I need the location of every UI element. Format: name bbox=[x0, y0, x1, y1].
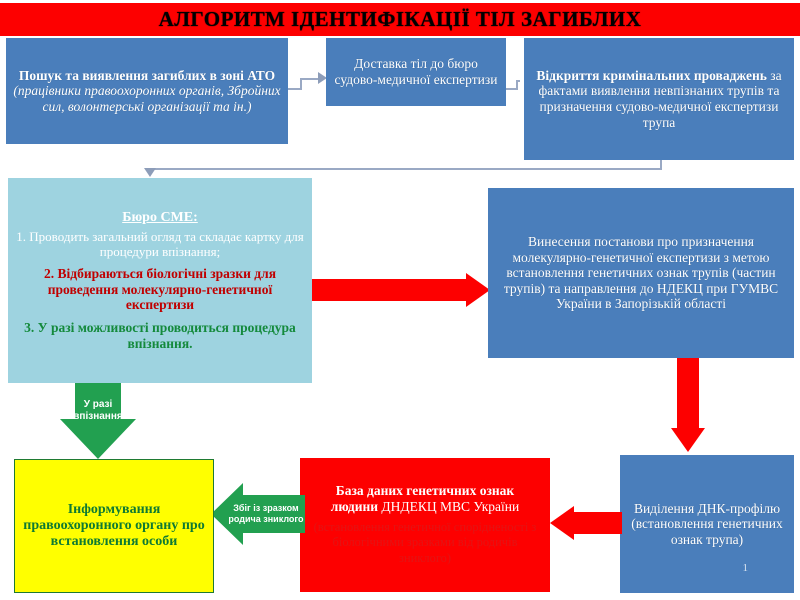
node-inform-text: Інформування правоохоронного органу про … bbox=[21, 502, 207, 551]
database-line-3: (встановлення генетичної спорідненості з… bbox=[306, 520, 544, 567]
database-line-2-rest: ДНДЕКЦ МВС України bbox=[378, 499, 519, 514]
arrow-head-left-icon bbox=[550, 506, 574, 540]
node-criminal-proceedings: Відкриття кримінальних проваджень за фак… bbox=[524, 38, 794, 160]
arrow-shaft bbox=[574, 512, 622, 534]
arrow-shaft bbox=[677, 358, 699, 430]
node-dna-profile: Виділення ДНК-профілю (встановлення гене… bbox=[620, 455, 794, 593]
node-resolution-text: Винесення постанови про призначення моле… bbox=[494, 234, 788, 312]
bureau-sme-step-3: 3. У разі можливості проводиться процеду… bbox=[14, 320, 306, 351]
node-body-delivery: Доставка тіл до бюро судово-медичної екс… bbox=[326, 38, 506, 106]
page-number: 1 bbox=[743, 562, 749, 574]
node-genetic-database: База даних генетичних ознак людини ДНДЕК… bbox=[300, 458, 550, 592]
node-bureau-sme: Бюро СМЕ: 1. Проводить загальний огляд т… bbox=[8, 178, 312, 383]
bureau-sme-header: Бюро СМЕ: bbox=[14, 210, 306, 226]
database-line-2-bold: людини bbox=[331, 499, 378, 514]
database-line-1: База даних генетичних ознак bbox=[306, 483, 544, 499]
title-banner: АЛГОРИТМ ІДЕНТИФІКАЦІЇ ТІЛ ЗАГИБЛИХ bbox=[0, 3, 800, 36]
arrow-recognition-label: У разі впізнання bbox=[60, 399, 136, 423]
node-search-and-recovery: Пошук та виявлення загиблих в зоні АТО (… bbox=[6, 38, 288, 144]
arrow-match-label: Збіг із зразком родича зниклого bbox=[228, 503, 304, 524]
node-dna-bold-text: Виділення ДНК-профілю bbox=[634, 501, 780, 516]
arrow-head-down-icon bbox=[60, 419, 136, 459]
node-search-bold-text: Пошук та виявлення загиблих в зоні АТО bbox=[19, 68, 275, 83]
node-dna-text: (встановлення генетичних ознак трупа) bbox=[631, 516, 782, 547]
page-title: АЛГОРИТМ ІДЕНТИФІКАЦІЇ ТІЛ ЗАГИБЛИХ bbox=[159, 7, 642, 32]
node-delivery-text: Доставка тіл до бюро судово-медичної екс… bbox=[332, 56, 500, 87]
node-proceedings-bold-text: Відкриття кримінальних проваджень bbox=[536, 68, 767, 83]
connector-segment bbox=[150, 168, 662, 170]
arrow-head-down-icon bbox=[671, 428, 705, 452]
flowchart-canvas: АЛГОРИТМ ІДЕНТИФІКАЦІЇ ТІЛ ЗАГИБЛИХ Пошу… bbox=[0, 0, 800, 600]
bureau-sme-step-1: 1. Проводить загальний огляд та складає … bbox=[14, 229, 306, 259]
node-inform-authority: Інформування правоохоронного органу про … bbox=[14, 459, 214, 593]
connector-arrowhead-icon bbox=[144, 168, 156, 177]
node-expertise-resolution: Винесення постанови про призначення моле… bbox=[488, 188, 794, 358]
node-search-italic-text: (працівники правоохоронних органів, Збро… bbox=[13, 83, 280, 114]
arrow-head-right-icon bbox=[466, 273, 490, 307]
arrow-shaft bbox=[312, 279, 466, 301]
bureau-sme-step-2: 2. Відбираються біологічні зразки для пр… bbox=[14, 266, 306, 313]
connector-segment bbox=[516, 80, 520, 82]
